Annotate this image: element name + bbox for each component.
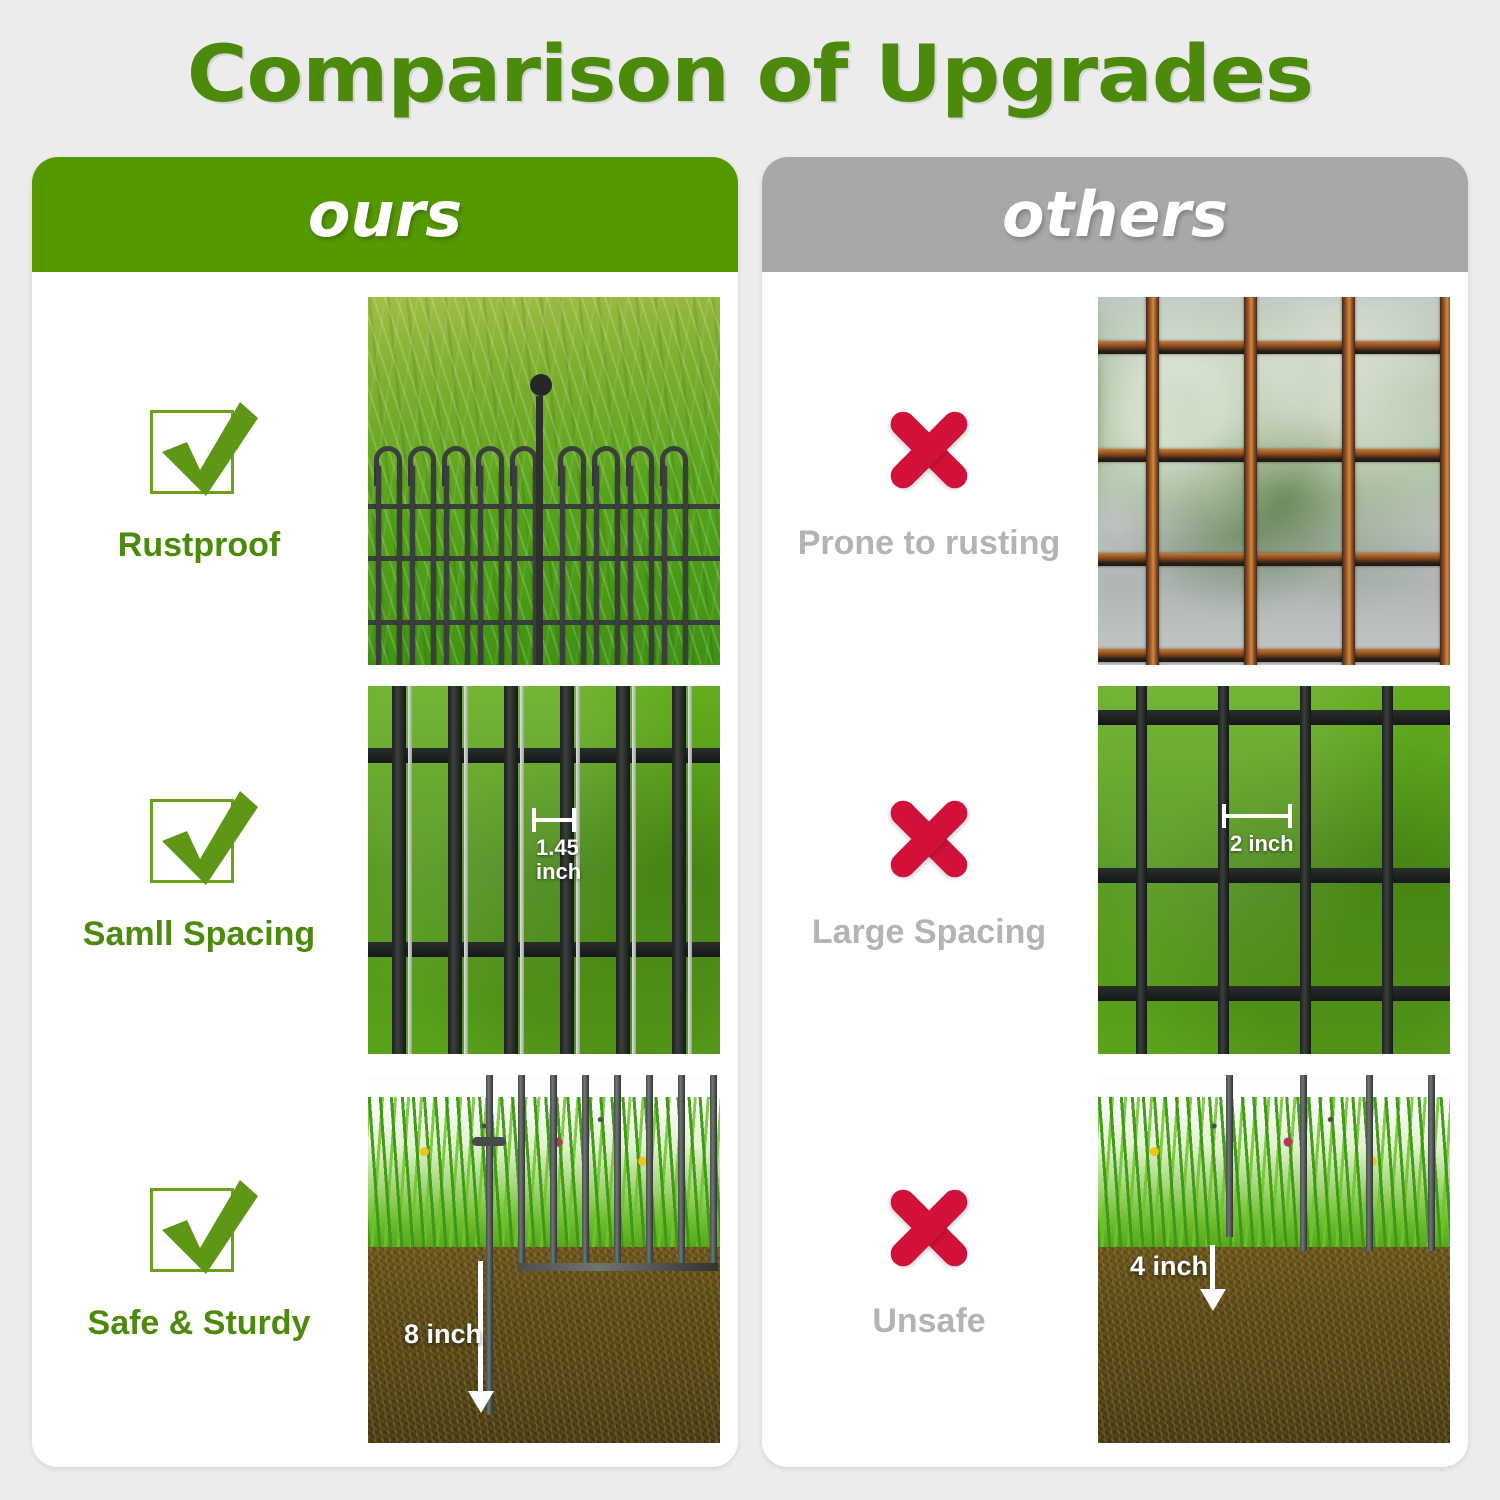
feature-label: Safe & Sturdy (88, 1304, 311, 1343)
x-icon (875, 398, 983, 502)
photo-stake-depth-ours: 8 inch (368, 1075, 720, 1443)
feature-label-cell: Large Spacing (784, 787, 1074, 952)
feature-row-small-spacing: Samll Spacing (32, 677, 738, 1062)
check-icon (140, 396, 258, 504)
dimension-label-ours-spacing: 1.45 inch (536, 836, 581, 885)
feature-label: Rustproof (118, 526, 280, 565)
column-ours: ours Rustproof (32, 157, 738, 1467)
feature-label-cell: Safe & Sturdy (54, 1174, 344, 1343)
feature-row-unsafe: Unsafe 4 inch (762, 1066, 1468, 1451)
feature-label: Samll Spacing (83, 915, 315, 954)
photo-rusty-mesh (1098, 297, 1450, 665)
dimension-bar-ours-spacing (532, 808, 576, 832)
photo-stake-depth-others: 4 inch (1098, 1075, 1450, 1443)
dimension-bar-others-spacing (1222, 804, 1292, 828)
feature-row-prone-to-rusting: Prone to rusting (762, 288, 1468, 673)
feature-row-rustproof: Rustproof (32, 288, 738, 673)
check-icon (140, 785, 258, 893)
dimension-label-others-spacing: 2 inch (1230, 832, 1294, 857)
feature-label: Large Spacing (812, 913, 1046, 952)
column-header-ours: ours (32, 157, 738, 272)
column-header-others: others (762, 157, 1468, 272)
depth-label-ours: 8 inch (404, 1319, 482, 1350)
x-icon (875, 1176, 983, 1280)
photo-small-spacing: 1.45 inch (368, 686, 720, 1054)
x-icon (875, 787, 983, 891)
depth-arrow-others (1210, 1245, 1215, 1293)
column-body-others: Prone to rusting (762, 272, 1468, 1467)
check-icon (140, 1174, 258, 1282)
column-others: others Prone to rusting (762, 157, 1468, 1467)
depth-label-others: 4 inch (1130, 1251, 1208, 1282)
feature-label: Unsafe (872, 1302, 985, 1341)
feature-row-safe-sturdy: Safe & Sturdy 8 in (32, 1066, 738, 1451)
feature-row-large-spacing: Large Spacing 2 inch (762, 677, 1468, 1062)
photo-rainproof-fence (368, 297, 720, 665)
feature-label: Prone to rusting (798, 524, 1061, 563)
column-body-ours: Rustproof (32, 272, 738, 1467)
comparison-columns: ours Rustproof (32, 157, 1468, 1467)
feature-label-cell: Rustproof (54, 396, 344, 565)
feature-label-cell: Prone to rusting (784, 398, 1074, 563)
feature-label-cell: Unsafe (784, 1176, 1074, 1341)
page-title: Comparison of Upgrades (0, 0, 1500, 150)
photo-large-spacing: 2 inch (1098, 686, 1450, 1054)
feature-label-cell: Samll Spacing (54, 785, 344, 954)
